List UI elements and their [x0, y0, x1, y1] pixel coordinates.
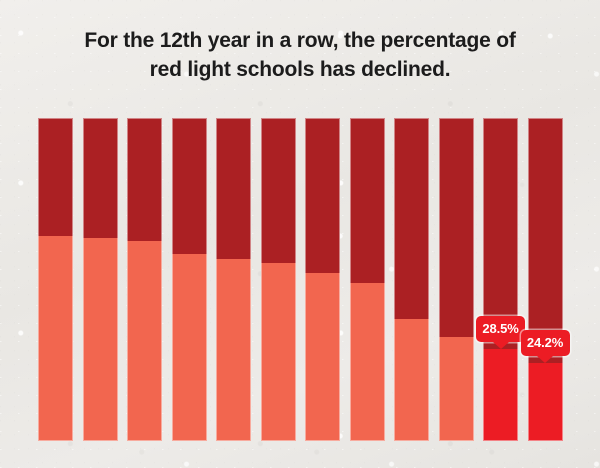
- bar-segment-upper: [350, 118, 385, 283]
- bar-segment-upper: [83, 118, 118, 238]
- bar-segment-upper: [528, 118, 563, 363]
- value-callout-label: 24.2%: [527, 335, 563, 350]
- bar-10: [439, 118, 474, 441]
- bar-segment-upper: [439, 118, 474, 337]
- bar-2: [83, 118, 118, 441]
- plot-area: 28.5%24.2%: [0, 0, 600, 468]
- value-callout-1: 24.2%: [521, 330, 570, 356]
- value-callout-0: 28.5%: [476, 316, 525, 342]
- bar-segment-lower: [394, 319, 429, 441]
- bar-8: [350, 118, 385, 441]
- bar-1: [38, 118, 73, 441]
- bar-segment-lower: [172, 254, 207, 441]
- bar-7: [305, 118, 340, 441]
- bar-segment-lower: [127, 241, 162, 441]
- bar-segment-upper: [172, 118, 207, 254]
- bar-9: [394, 118, 429, 441]
- bar-segment-lower: [83, 238, 118, 441]
- bar-12: [528, 118, 563, 441]
- callout-pointer-icon: [493, 342, 509, 349]
- bar-segment-upper: [483, 118, 518, 349]
- bar-segment-lower: [305, 273, 340, 441]
- bar-3: [127, 118, 162, 441]
- value-callout-label: 28.5%: [482, 321, 518, 336]
- bar-segment-upper: [127, 118, 162, 241]
- bar-segment-lower: [38, 236, 73, 441]
- bar-segment-lower: [350, 283, 385, 441]
- bar-segment-upper: [394, 118, 429, 319]
- bar-segment-lower: [261, 263, 296, 441]
- bar-segment-lower: [528, 363, 563, 441]
- bar-5: [216, 118, 251, 441]
- chart-container: For the 12th year in a row, the percenta…: [0, 0, 600, 468]
- bar-segment-lower: [216, 259, 251, 441]
- bar-6: [261, 118, 296, 441]
- bar-segment-upper: [305, 118, 340, 273]
- bar-segment-upper: [216, 118, 251, 259]
- bar-segment-upper: [38, 118, 73, 236]
- bar-segment-lower: [483, 349, 518, 441]
- callout-pointer-icon: [537, 356, 553, 363]
- bar-11: [483, 118, 518, 441]
- bar-4: [172, 118, 207, 441]
- bar-segment-lower: [439, 337, 474, 441]
- bar-segment-upper: [261, 118, 296, 263]
